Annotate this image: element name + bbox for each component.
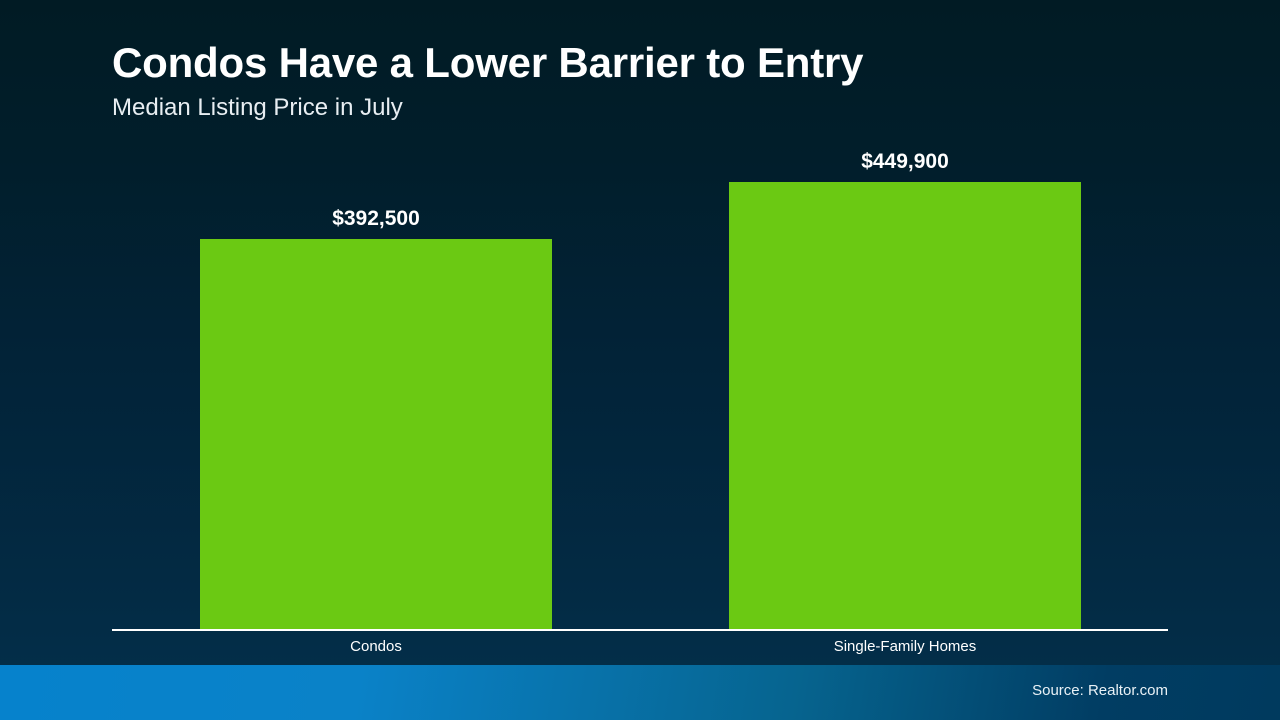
slide-canvas: Condos Have a Lower Barrier to Entry Med… bbox=[0, 0, 1280, 720]
chart-subtitle: Median Listing Price in July bbox=[112, 94, 1212, 122]
category-label-condos: Condos bbox=[200, 638, 552, 655]
page-title: Condos Have a Lower Barrier to Entry bbox=[112, 40, 1212, 85]
bar-group-single-family-homes: $449,900 bbox=[729, 160, 1081, 631]
chart-header: Condos Have a Lower Barrier to Entry Med… bbox=[112, 40, 1212, 122]
x-axis-line bbox=[112, 629, 1168, 631]
bar-chart-plot-area: $392,500 $449,900 bbox=[112, 160, 1168, 631]
bar-group-condos: $392,500 bbox=[200, 160, 552, 631]
x-axis-tick-labels: Condos Single-Family Homes bbox=[112, 638, 1168, 662]
bar-value-label: $392,500 bbox=[200, 207, 552, 231]
footer-bar: Source: Realtor.com bbox=[0, 665, 1280, 720]
bar-condos[interactable] bbox=[200, 239, 552, 631]
source-attribution: Source: Realtor.com bbox=[1032, 682, 1168, 699]
bar-single-family-homes[interactable] bbox=[729, 182, 1081, 631]
bar-value-label: $449,900 bbox=[729, 150, 1081, 174]
category-label-single-family-homes: Single-Family Homes bbox=[729, 638, 1081, 655]
